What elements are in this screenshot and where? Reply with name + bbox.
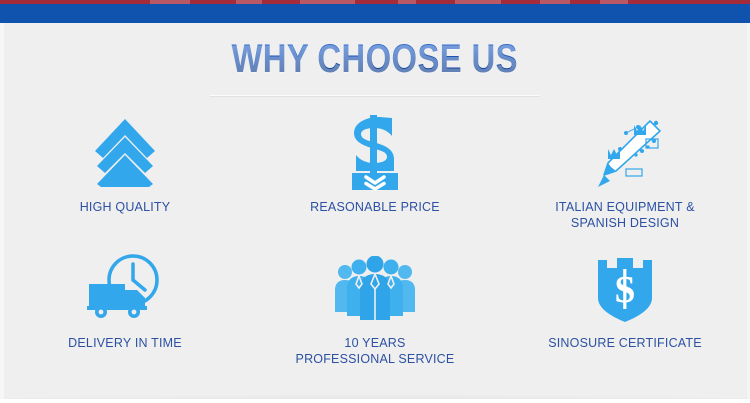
feature-item: ITALIAN EQUIPMENT & SPANISH DESIGN [500, 110, 750, 246]
feature-label: HIGH QUALITY [80, 199, 171, 215]
feature-label: ITALIAN EQUIPMENT & SPANISH DESIGN [555, 199, 694, 231]
title-divider [210, 95, 540, 97]
rank-chevron-badge-icon [93, 114, 157, 192]
feature-label: SINOSURE CERTIFICATE [548, 335, 702, 351]
dollar-price-down-icon [342, 114, 408, 192]
feature-item: DELIVERY IN TIME [0, 246, 250, 382]
top-blue-bar [0, 4, 750, 23]
page-title-word-choose-us: CHOOSE US [318, 37, 519, 81]
bottom-white-strip [0, 399, 750, 403]
page-title: WHYCHOOSE US [0, 38, 750, 80]
team-people-icon [333, 250, 417, 328]
shield-dollar-certificate-icon: S [594, 250, 656, 328]
feature-item: HIGH QUALITY [0, 110, 250, 246]
feature-label: REASONABLE PRICE [310, 199, 440, 215]
feature-label: DELIVERY IN TIME [68, 335, 182, 351]
why-choose-us-banner: WHYCHOOSE US HIGH QUALITY [0, 0, 750, 403]
page-title-word-why: WHY [232, 37, 310, 81]
delivery-truck-clock-icon [85, 250, 165, 328]
feature-label: 10 YEARS PROFESSIONAL SERVICE [296, 335, 455, 367]
feature-item: 10 YEARS PROFESSIONAL SERVICE [250, 246, 500, 382]
feature-item: S SINOSURE CERTIFICATE [500, 246, 750, 382]
feature-item: REASONABLE PRICE [250, 110, 500, 246]
design-pen-network-icon [586, 114, 664, 192]
feature-grid: HIGH QUALITY REASONABLE PRICE [0, 110, 750, 382]
